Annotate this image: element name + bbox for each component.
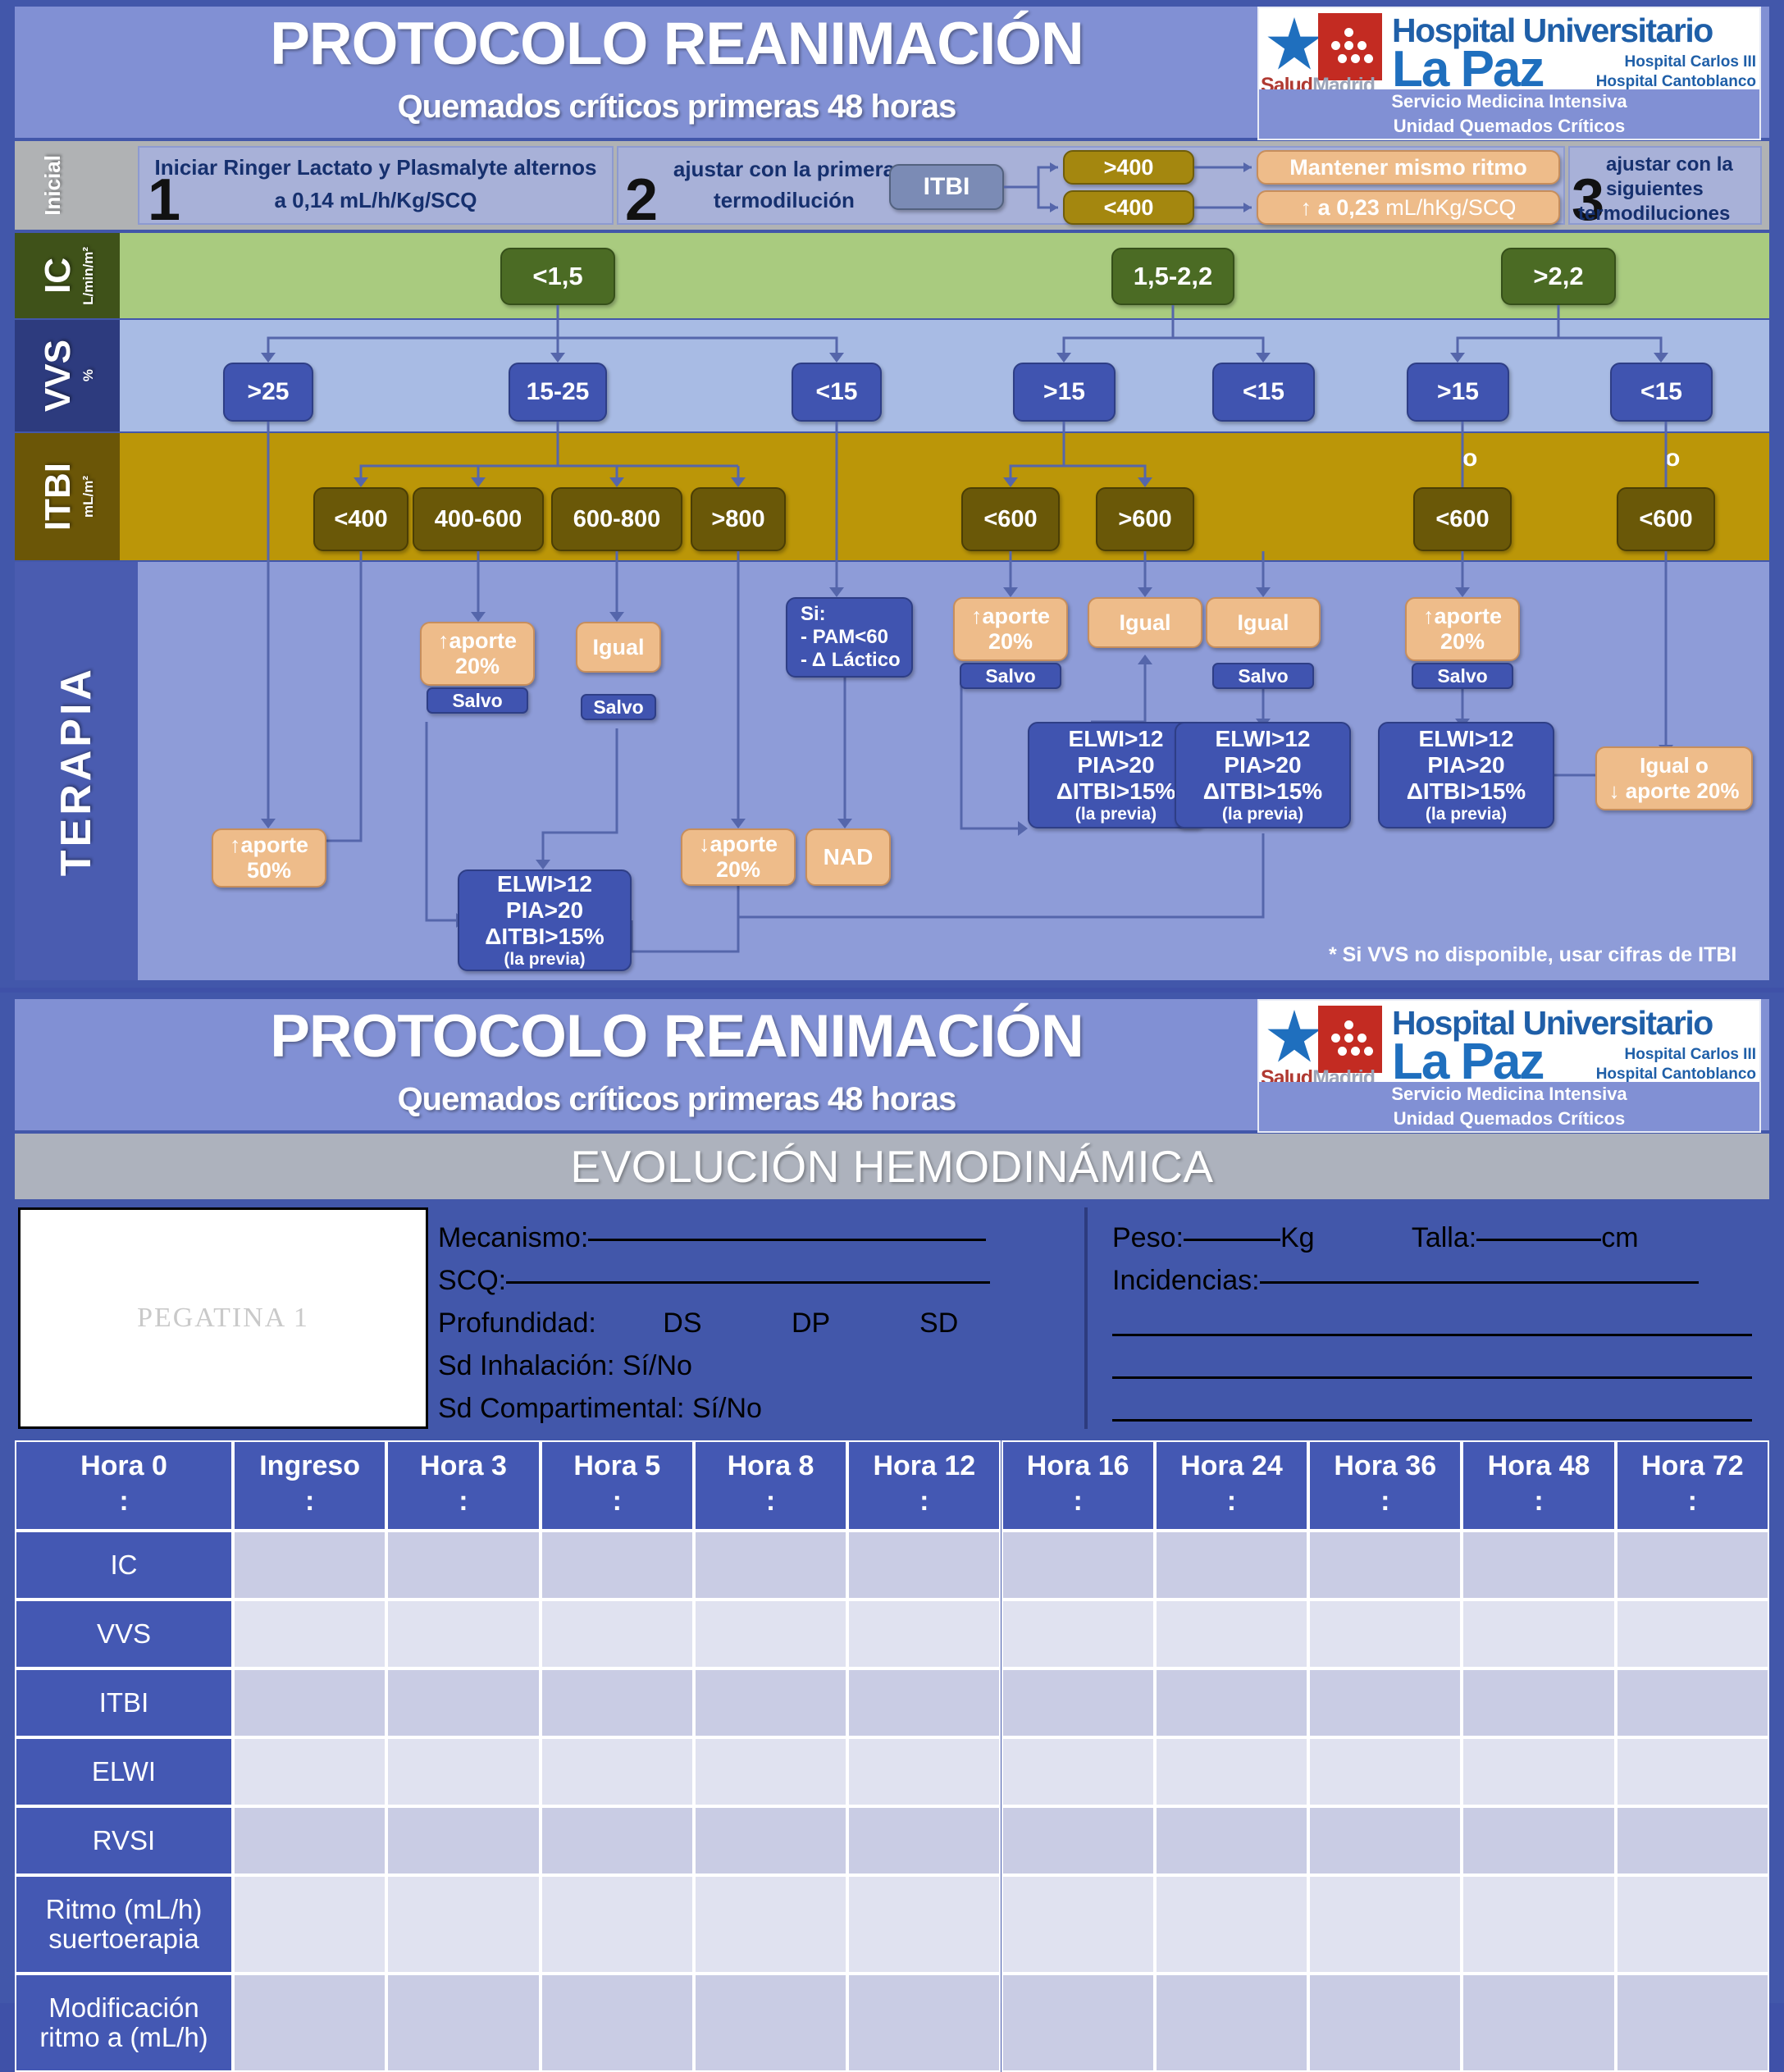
therapy-igual-c: Igual xyxy=(1206,597,1321,648)
logo-affiliated-hospitals-2: Hospital Carlos III Hospital Cantoblanco xyxy=(1596,1045,1756,1082)
step1-line1: Iniciar Ringer Lactato y Plasmalyte alte… xyxy=(139,154,612,181)
field-incidencias[interactable]: Incidencias: xyxy=(1112,1266,1699,1294)
table-cell[interactable] xyxy=(1155,1974,1308,2072)
column-header-label: Hora 72 xyxy=(1641,1450,1744,1482)
table-cell[interactable] xyxy=(1002,1668,1155,1737)
ic-node-2: >2,2 xyxy=(1501,248,1616,305)
table-cell[interactable] xyxy=(847,1875,1001,1974)
madrid-flag-icon-2 xyxy=(1318,1006,1382,1073)
table-column-header[interactable]: Hora 16: xyxy=(1002,1440,1155,1531)
table-cell[interactable] xyxy=(847,1668,1001,1737)
table-cell[interactable] xyxy=(541,1600,694,1668)
field-compartimental[interactable]: Sd Compartimental: Sí/No xyxy=(438,1394,762,1422)
table-cell[interactable] xyxy=(1002,1531,1155,1600)
table-cell[interactable] xyxy=(1462,1875,1615,1974)
table-cell[interactable] xyxy=(541,1806,694,1875)
table-cell[interactable] xyxy=(847,1531,1001,1600)
salvo-label-b: Salvo xyxy=(581,694,656,720)
column-time-colon: : xyxy=(1073,1486,1082,1517)
therapy-igual-a: Igual xyxy=(576,622,661,673)
table-column-header[interactable]: Hora 36: xyxy=(1308,1440,1462,1531)
table-cell[interactable] xyxy=(1155,1737,1308,1806)
table-cell[interactable] xyxy=(694,1806,847,1875)
table-cell[interactable] xyxy=(233,1668,386,1737)
panel1-subtitle: Quemados críticos primeras 48 horas xyxy=(148,89,1206,126)
table-cell[interactable] xyxy=(386,1668,540,1737)
table-cell[interactable] xyxy=(1002,1600,1155,1668)
table-cell[interactable] xyxy=(694,1600,847,1668)
table-cell[interactable] xyxy=(1002,1806,1155,1875)
vvs-node-4: <15 xyxy=(1212,363,1315,422)
table-cell[interactable] xyxy=(233,1974,386,2072)
table-row-header[interactable]: ITBI xyxy=(15,1668,233,1737)
table-cell[interactable] xyxy=(694,1531,847,1600)
itbi-node-7: <600 xyxy=(1617,487,1715,551)
therapy-elwi-box-3: ELWI>12PIA>20 ΔITBI>15%(la previa) xyxy=(1175,722,1351,828)
inicial-row-label: Inicial xyxy=(15,141,90,230)
ic-node-0: <1,5 xyxy=(500,248,615,305)
itbi-branch-high: >400 xyxy=(1063,150,1194,185)
inicial-step2-card: 2 ajustar con la primera termodilución I… xyxy=(617,146,1565,225)
inicial-step3-card: 3 ajustar con la siguientes termodilucio… xyxy=(1568,146,1762,225)
table-cell[interactable] xyxy=(1462,1974,1615,2072)
protocol-sheet: PROTOCOLO REANIMACIÓN Quemados críticos … xyxy=(0,0,1784,2003)
salvo-label-e: Salvo xyxy=(1412,663,1513,689)
inicial-step1-card: 1 Iniciar Ringer Lactato y Plasmalyte al… xyxy=(138,146,614,225)
itbi-node: ITBI xyxy=(889,164,1004,210)
hemodynamic-table: Hora 0:Ingreso:Hora 3:Hora 5:Hora 8:Hora… xyxy=(15,1440,1769,1985)
table-cell[interactable] xyxy=(386,1974,540,2072)
therapy-bajar-aporte20: ↓aporte20% xyxy=(681,828,796,886)
column-header-label: Hora 48 xyxy=(1488,1450,1590,1482)
itbi-node-5: >600 xyxy=(1096,487,1194,551)
column-time-colon: : xyxy=(1380,1486,1389,1517)
table-cell[interactable] xyxy=(1155,1875,1308,1974)
step2-line2: termodilución xyxy=(661,187,907,214)
table-cell[interactable] xyxy=(541,1875,694,1974)
step3-line3: termodiluciones xyxy=(1578,202,1762,226)
table-cell[interactable] xyxy=(847,1600,1001,1668)
table-column-header[interactable]: Hora 8: xyxy=(694,1440,847,1531)
table-row-header[interactable]: RVSI xyxy=(15,1806,233,1875)
column-time-colon: : xyxy=(919,1486,929,1517)
vvs-node-1: 15-25 xyxy=(509,363,607,422)
vvs-node-6: <15 xyxy=(1610,363,1713,422)
table-cell[interactable] xyxy=(541,1974,694,2072)
vvs-row-label: VVS % xyxy=(15,320,120,431)
table-column-header[interactable]: Hora 5: xyxy=(541,1440,694,1531)
table-cell[interactable] xyxy=(847,1737,1001,1806)
incidencias-line-3[interactable] xyxy=(1112,1362,1752,1390)
itbi-node-6: <600 xyxy=(1413,487,1512,551)
madrid-star-icon-2 xyxy=(1264,1007,1325,1068)
therapy-aporte50: ↑aporte50% xyxy=(212,828,326,888)
profundidad-option-ds[interactable]: DS xyxy=(663,1308,701,1339)
field-profundidad[interactable]: Profundidad: DS DP SD xyxy=(438,1309,958,1337)
logo-service-lines-2: Servicio Medicina Intensiva Unidad Quema… xyxy=(1259,1082,1759,1131)
table-cell[interactable] xyxy=(1308,1806,1462,1875)
terapia-row-label: TERAPIA xyxy=(15,562,138,980)
logo-la-paz-2: La Paz xyxy=(1392,1037,1543,1082)
column-time-colon: : xyxy=(459,1486,468,1517)
panel-evolution-form: PROTOCOLO REANIMACIÓN Quemados críticos … xyxy=(0,993,1784,2003)
table-cell[interactable] xyxy=(386,1737,540,1806)
column-header-label: Hora 16 xyxy=(1027,1450,1129,1482)
table-cell[interactable] xyxy=(1155,1531,1308,1600)
step2-line1: ajustar con la primera xyxy=(661,156,907,183)
step1-line2: a 0,14 mL/h/Kg/SCQ xyxy=(139,187,612,214)
column-time-colon: : xyxy=(1227,1486,1236,1517)
ic-node-1: 1,5-2,2 xyxy=(1111,248,1234,305)
hospital-logo-2: SaludMadrid Hospital Universitario La Pa… xyxy=(1257,999,1761,1133)
field-mecanismo[interactable]: Mecanismo: xyxy=(438,1224,986,1252)
table-cell[interactable] xyxy=(1308,1737,1462,1806)
table-cell[interactable] xyxy=(386,1600,540,1668)
profundidad-option-dp[interactable]: DP xyxy=(792,1308,830,1339)
vvs-node-2: <15 xyxy=(792,363,882,422)
column-header-label: Hora 3 xyxy=(420,1450,507,1482)
salvo-label-d: Salvo xyxy=(1212,663,1314,689)
therapy-nad: NAD xyxy=(805,828,891,886)
column-header-label: Hora 5 xyxy=(573,1450,660,1482)
table-cell[interactable] xyxy=(541,1531,694,1600)
table-column-header[interactable]: Hora 72: xyxy=(1616,1440,1769,1531)
therapy-aporte20-c: ↑aporte20% xyxy=(1405,597,1520,661)
column-header-label: Hora 8 xyxy=(728,1450,814,1482)
field-peso-talla[interactable]: Peso:Kg Talla:cm xyxy=(1112,1224,1639,1252)
logo-affiliated-hospitals: Hospital Carlos III Hospital Cantoblanco xyxy=(1596,52,1756,89)
table-row-header[interactable]: IC xyxy=(15,1531,233,1600)
table-cell[interactable] xyxy=(1616,1600,1769,1668)
vvs-node-3: >15 xyxy=(1013,363,1116,422)
table-column-header[interactable]: Hora 48: xyxy=(1462,1440,1615,1531)
column-time-colon: : xyxy=(766,1486,775,1517)
panel1-title: PROTOCOLO REANIMACIÓN xyxy=(148,10,1206,78)
table-cell[interactable] xyxy=(1616,1875,1769,1974)
table-cell[interactable] xyxy=(233,1531,386,1600)
itbi-row-label: ITBI mL/m² xyxy=(15,433,120,560)
o-mark-0: o xyxy=(1462,445,1477,472)
column-header-label: Ingreso xyxy=(259,1450,360,1482)
form-divider xyxy=(1084,1207,1088,1429)
incidencias-line-4[interactable] xyxy=(1112,1404,1752,1432)
incidencias-line-2[interactable] xyxy=(1112,1319,1752,1347)
table-cell[interactable] xyxy=(1308,1531,1462,1600)
table-cell[interactable] xyxy=(694,1875,847,1974)
table-cell[interactable] xyxy=(1462,1600,1615,1668)
table-cell[interactable] xyxy=(1462,1806,1615,1875)
table-column-header[interactable]: Hora 0: xyxy=(15,1440,233,1531)
column-header-label: Hora 36 xyxy=(1334,1450,1436,1482)
table-cell[interactable] xyxy=(847,1806,1001,1875)
itbi-node-3: >800 xyxy=(691,487,786,551)
table-cell[interactable] xyxy=(1616,1974,1769,2072)
panel2-title: PROTOCOLO REANIMACIÓN xyxy=(148,1002,1206,1070)
table-cell[interactable] xyxy=(233,1806,386,1875)
therapy-elwi-box-1: ELWI>12PIA>20 ΔITBI>15%(la previa) xyxy=(458,869,632,971)
table-cell[interactable] xyxy=(1155,1806,1308,1875)
flowchart-footnote: * Si VVS no disponible, usar cifras de I… xyxy=(1329,943,1736,967)
itbi-node-0: <400 xyxy=(313,487,408,551)
step2-number: 2 xyxy=(625,177,658,225)
column-header-label: Hora 24 xyxy=(1180,1450,1283,1482)
table-cell[interactable] xyxy=(541,1668,694,1737)
therapy-si-conditions: Si: - PAM<60 - Δ Láctico xyxy=(786,597,913,678)
table-column-header[interactable]: Hora 24: xyxy=(1155,1440,1308,1531)
table-cell[interactable] xyxy=(233,1600,386,1668)
table-cell[interactable] xyxy=(1616,1531,1769,1600)
table-cell[interactable] xyxy=(1002,1875,1155,1974)
table-cell[interactable] xyxy=(541,1737,694,1806)
therapy-igual-o-bajar: Igual o↓ aporte 20% xyxy=(1595,746,1753,810)
table-column-header[interactable]: Ingreso: xyxy=(233,1440,386,1531)
table-cell[interactable] xyxy=(1616,1806,1769,1875)
therapy-aporte20-a: ↑aporte20% xyxy=(420,622,535,686)
therapy-aporte20-b: ↑aporte20% xyxy=(953,597,1068,661)
table-cell[interactable] xyxy=(386,1875,540,1974)
table-cell[interactable] xyxy=(386,1531,540,1600)
logo-la-paz: La Paz xyxy=(1392,44,1543,89)
column-header-label: Hora 0 xyxy=(80,1450,167,1482)
salvo-label-c: Salvo xyxy=(960,663,1061,689)
table-cell[interactable] xyxy=(694,1668,847,1737)
table-column-header[interactable]: Hora 12: xyxy=(847,1440,1001,1531)
table-cell[interactable] xyxy=(694,1974,847,2072)
step3-line2: siguientes xyxy=(1606,177,1762,202)
sticker-placeholder: PEGATINA 1 xyxy=(18,1207,428,1429)
result-mantener-ritmo: Mantener mismo ritmo xyxy=(1257,150,1560,185)
column-time-colon: : xyxy=(119,1486,128,1517)
therapy-igual-b: Igual xyxy=(1088,597,1202,648)
hospital-logo: SaludMadrid Hospital Universitario La Pa… xyxy=(1257,7,1761,140)
table-row-header[interactable]: Ritmo (mL/h) suertoerapia xyxy=(15,1875,233,1974)
saludmadrid-wordmark-2: SaludMadrid xyxy=(1261,1066,1375,1082)
table-cell[interactable] xyxy=(694,1737,847,1806)
evolution-band-title: EVOLUCIÓN HEMODINÁMICA xyxy=(15,1134,1769,1199)
table-cell[interactable] xyxy=(847,1974,1001,2072)
column-time-colon: : xyxy=(613,1486,622,1517)
result-aumentar-ritmo: ↑ a 0,23 mL/hKg/SCQ xyxy=(1257,190,1560,225)
table-cell[interactable] xyxy=(1308,1668,1462,1737)
step3-line1: ajustar con la xyxy=(1606,153,1762,177)
table-cell[interactable] xyxy=(386,1806,540,1875)
column-time-colon: : xyxy=(305,1486,314,1517)
table-cell[interactable] xyxy=(1616,1737,1769,1806)
table-cell[interactable] xyxy=(1462,1737,1615,1806)
field-inhalacion[interactable]: Sd Inhalación: Sí/No xyxy=(438,1352,692,1380)
table-cell[interactable] xyxy=(1462,1531,1615,1600)
panel2-subtitle: Quemados críticos primeras 48 horas xyxy=(148,1081,1206,1118)
field-scq[interactable]: SCQ: xyxy=(438,1266,990,1294)
vvs-node-0: >25 xyxy=(223,363,313,422)
table-cell[interactable] xyxy=(1155,1668,1308,1737)
ic-row-label: IC L/min/m² xyxy=(15,233,120,318)
logo-service-lines: Servicio Medicina Intensiva Unidad Quema… xyxy=(1259,89,1759,139)
o-mark-1: o xyxy=(1665,445,1680,472)
table-cell[interactable] xyxy=(1002,1737,1155,1806)
itbi-node-4: <600 xyxy=(961,487,1060,551)
table-cell[interactable] xyxy=(1002,1974,1155,2072)
therapy-elwi-box-4: ELWI>12PIA>20 ΔITBI>15%(la previa) xyxy=(1378,722,1554,828)
itbi-node-2: 600-800 xyxy=(551,487,682,551)
itbi-node-1: 400-600 xyxy=(413,487,544,551)
table-cell[interactable] xyxy=(1308,1875,1462,1974)
panel-protocol-flowchart: PROTOCOLO REANIMACIÓN Quemados críticos … xyxy=(0,0,1784,988)
madrid-flag-icon xyxy=(1318,13,1382,80)
table-cell[interactable] xyxy=(233,1737,386,1806)
profundidad-option-sd[interactable]: SD xyxy=(919,1308,958,1339)
table-cell[interactable] xyxy=(233,1875,386,1974)
column-header-label: Hora 12 xyxy=(873,1450,975,1482)
table-cell[interactable] xyxy=(1155,1600,1308,1668)
table-column-header[interactable]: Hora 3: xyxy=(386,1440,540,1531)
itbi-branch-low: <400 xyxy=(1063,190,1194,225)
table-row-header[interactable]: Modificación ritmo a (mL/h) xyxy=(15,1974,233,2072)
table-row-header[interactable]: ELWI xyxy=(15,1737,233,1806)
table-row-header[interactable]: VVS xyxy=(15,1600,233,1668)
salvo-label-a: Salvo xyxy=(427,687,528,714)
table-cell[interactable] xyxy=(1462,1668,1615,1737)
vvs-node-5: >15 xyxy=(1407,363,1509,422)
table-cell[interactable] xyxy=(1616,1668,1769,1737)
column-time-colon: : xyxy=(1688,1486,1697,1517)
saludmadrid-wordmark: SaludMadrid xyxy=(1261,74,1375,89)
madrid-star-icon xyxy=(1264,15,1325,75)
table-cell[interactable] xyxy=(1308,1974,1462,2072)
column-time-colon: : xyxy=(1534,1486,1543,1517)
table-cell[interactable] xyxy=(1308,1600,1462,1668)
